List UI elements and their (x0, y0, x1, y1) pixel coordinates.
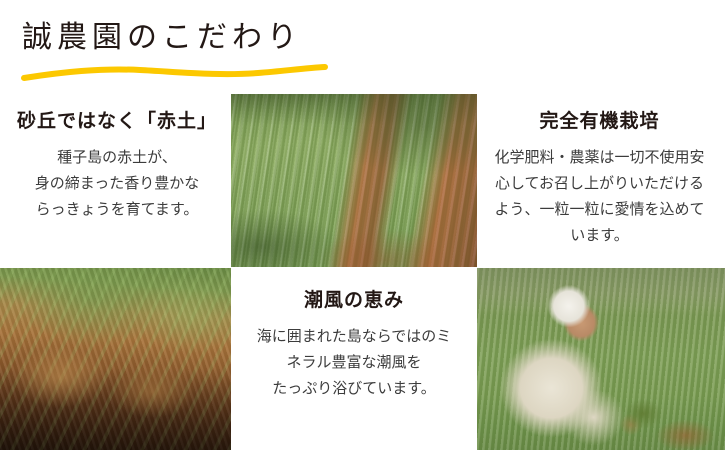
page-title: 誠農園のこだわり (22, 18, 442, 58)
body-line: たっぷり浴びています。 (236, 376, 472, 402)
promo-page: 誠農園のこだわり 砂丘ではなく「赤土」 種子島の赤土が、 身の締まった香り豊かな… (0, 0, 725, 450)
feature-body-organic: 化学肥料・農薬は一切不使用安 心してお召し上がりいただける よう、一粒一粒に愛情… (481, 145, 718, 249)
body-line: 化学肥料・農薬は一切不使用安 (481, 145, 718, 171)
title-underline-stroke (22, 62, 327, 84)
feature-heading-red-soil: 砂丘ではなく「赤土」 (6, 110, 228, 134)
feature-panel-organic: 完全有機栽培 化学肥料・農薬は一切不使用安 心してお召し上がりいただける よう、… (481, 110, 718, 249)
feature-body-red-soil: 種子島の赤土が、 身の締まった香り豊かな らっきょうを育てます。 (6, 145, 228, 223)
body-line: ネラル豊富な潮風を (236, 350, 472, 376)
feature-panel-red-soil: 砂丘ではなく「赤土」 種子島の赤土が、 身の締まった香り豊かな らっきょうを育て… (6, 110, 228, 223)
body-line: 海に囲まれた島ならではのミ (236, 324, 472, 350)
feature-heading-organic: 完全有機栽培 (481, 110, 718, 134)
body-line: 身の締まった香り豊かな (6, 171, 228, 197)
feature-body-sea-breeze: 海に囲まれた島ならではのミ ネラル豊富な潮風を たっぷり浴びています。 (236, 324, 472, 402)
feature-heading-sea-breeze: 潮風の恵み (236, 289, 472, 313)
photo-farmer (477, 268, 725, 450)
body-line: 種子島の赤土が、 (6, 145, 228, 171)
title-block: 誠農園のこだわり (22, 18, 442, 88)
feature-panel-sea-breeze: 潮風の恵み 海に囲まれた島ならではのミ ネラル豊富な潮風を たっぷり浴びています… (236, 289, 472, 402)
photo-soil-closeup (0, 268, 231, 450)
body-line: 心してお召し上がりいただける (481, 171, 718, 197)
photo-field-rows (231, 94, 477, 267)
body-line: らっきょうを育てます。 (6, 197, 228, 223)
body-line: よう、一粒一粒に愛情を込めて (481, 197, 718, 223)
body-line: います。 (481, 223, 718, 249)
